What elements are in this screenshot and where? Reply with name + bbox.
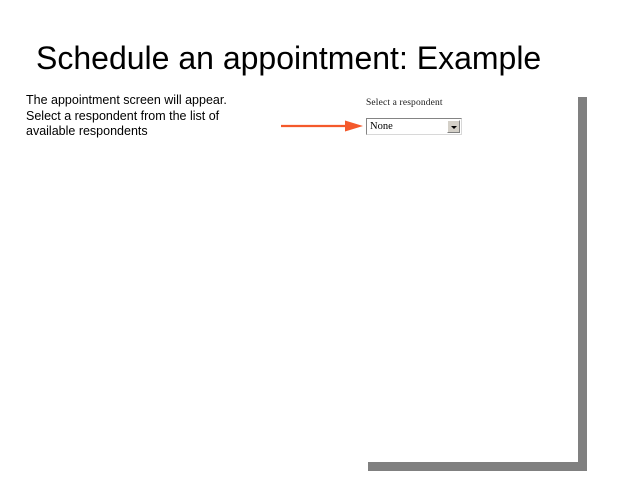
- screenshot-frame-shadow-right: [578, 97, 587, 466]
- screenshot-frame-shadow-bottom: [368, 462, 587, 471]
- chevron-down-icon: [451, 126, 457, 129]
- respondent-select-value: None: [370, 121, 393, 133]
- page-title: Schedule an appointment: Example: [36, 38, 608, 78]
- presentation-slide: Schedule an appointment: Example The app…: [0, 0, 640, 480]
- arrow-right-icon: [281, 117, 365, 135]
- respondent-select[interactable]: None: [366, 118, 462, 135]
- respondent-select-dropdown-button[interactable]: [447, 120, 460, 133]
- select-a-respondent-label: Select a respondent: [366, 98, 443, 109]
- embedded-form-screenshot: Select a respondent None: [366, 96, 472, 140]
- body-text: The appointment screen will appear. Sele…: [26, 93, 252, 140]
